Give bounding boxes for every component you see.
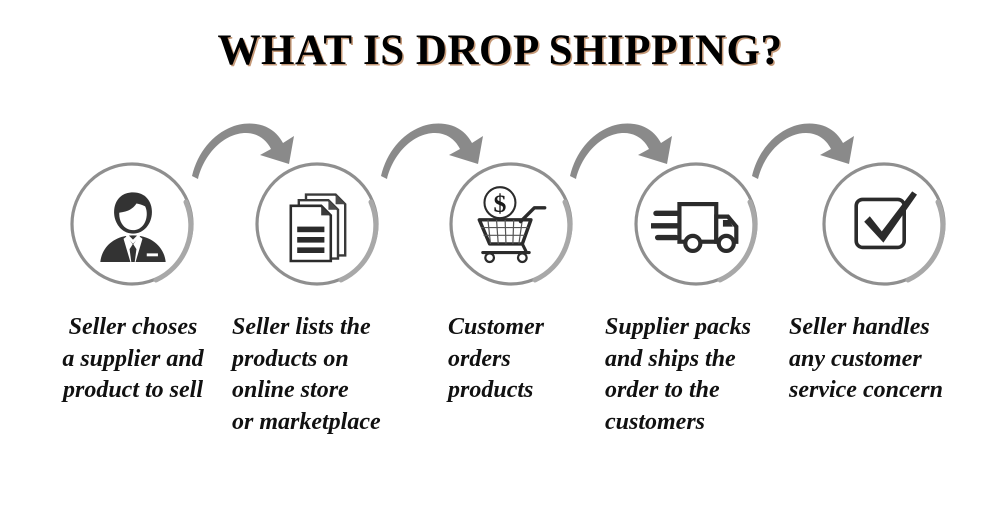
step-circle [68,160,198,290]
step-caption: Seller choses a supplier and product to … [33,312,233,407]
step-circle [820,160,950,290]
step-item: Supplier packs and ships the order to th… [597,160,797,439]
documents-icon [253,160,383,290]
step-item: $ [412,160,612,407]
step-caption: Customer orders products [412,312,612,407]
svg-text:$: $ [494,189,507,218]
checkbox-check-icon [820,160,950,290]
step-caption: Seller handles any customer service conc… [785,312,985,407]
infographic-canvas: WHAT IS DROP SHIPPING? [0,0,1000,520]
step-caption: Seller lists the products on online stor… [218,312,418,439]
step-circle [632,160,762,290]
step-caption: Supplier packs and ships the order to th… [597,312,797,439]
businessman-icon [68,160,198,290]
steps-row: Seller choses a supplier and product to … [0,0,1000,520]
delivery-truck-icon [632,160,762,290]
step-item: Seller handles any customer service conc… [785,160,985,407]
step-item: Seller lists the products on online stor… [218,160,418,439]
shopping-cart-dollar-icon: $ [447,160,577,290]
step-circle: $ [447,160,577,290]
step-item: Seller choses a supplier and product to … [33,160,233,407]
step-circle [253,160,383,290]
